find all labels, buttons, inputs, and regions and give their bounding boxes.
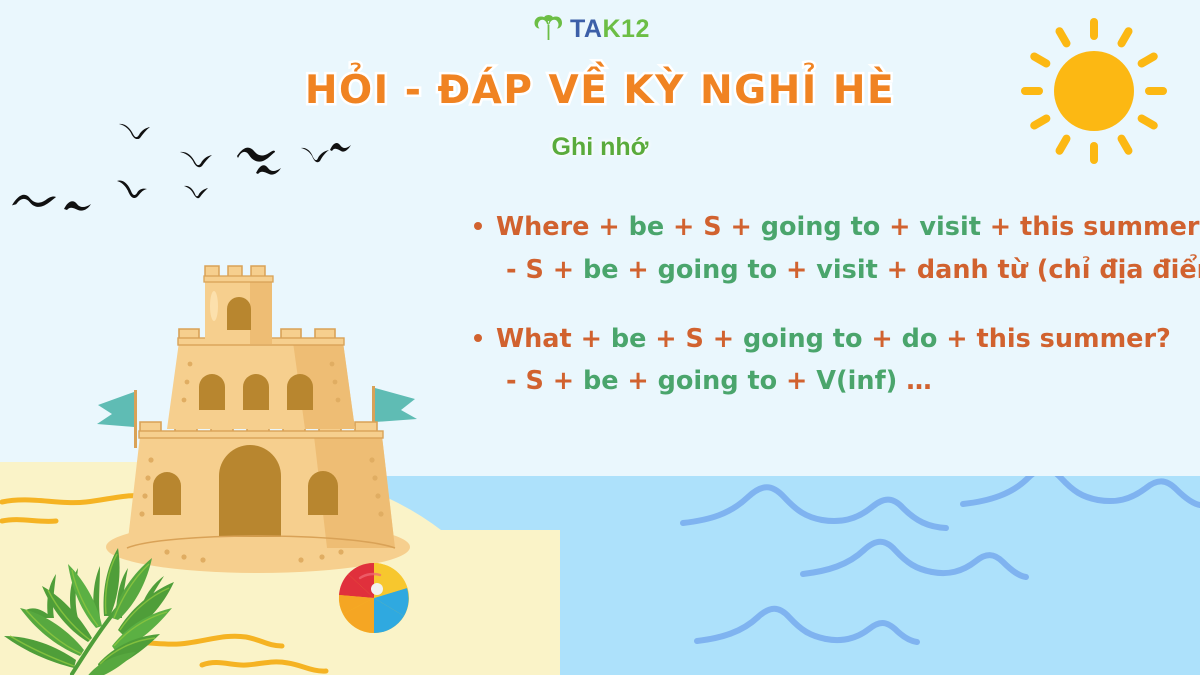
memo-segment: +	[777, 255, 816, 285]
memo-segment: +	[544, 255, 583, 285]
memo-segment: S	[703, 212, 721, 242]
memo-segment: going to	[761, 212, 881, 242]
memo-segment: +	[544, 366, 583, 396]
memo-segment: S	[525, 255, 543, 285]
memo-segment: +	[863, 324, 902, 354]
memo-answer-line: - S + be + going to + V(inf) …	[474, 360, 1174, 403]
memo-segment: going to	[743, 324, 863, 354]
infographic-canvas: TAK12 HỎI - ĐÁP VỀ KỲ NGHỈ HÈ Ghi nhớ Wh…	[0, 0, 1200, 675]
bullet-marker	[474, 222, 482, 230]
memo-segment: +	[589, 212, 628, 242]
memo-segment: +	[878, 255, 917, 285]
memo-segment: +	[981, 212, 1020, 242]
beach-ball-icon	[338, 562, 410, 634]
memo-segment: this summer?	[1020, 212, 1200, 242]
memo-segment: +	[777, 366, 816, 396]
memo-spacer	[474, 292, 1174, 318]
memo-segment: this summer?	[977, 324, 1171, 354]
memo-segment: +	[664, 212, 703, 242]
memo-segment: be	[611, 324, 647, 354]
memo-segment: …	[897, 366, 931, 396]
memo-segment: do	[902, 324, 938, 354]
memo-segment: be	[629, 212, 665, 242]
memo-segment: +	[722, 212, 761, 242]
memo-segment: +	[619, 255, 658, 285]
memo-answer-line: - S + be + going to + visit + danh từ (c…	[474, 249, 1174, 292]
memo-segment: going to	[658, 255, 778, 285]
memo-segment: +	[937, 324, 976, 354]
palm-leaf-icon	[0, 548, 194, 675]
bullet-marker	[474, 334, 482, 342]
sandcastle-icon	[95, 264, 425, 574]
memo-segment: What	[496, 324, 572, 354]
memo-segment: visit	[816, 255, 877, 285]
memo-segment: be	[583, 255, 619, 285]
memo-segment: +	[880, 212, 919, 242]
bird-icon	[255, 161, 283, 177]
memo-segment: V(inf)	[816, 366, 897, 396]
logo-text-k12: K12	[602, 15, 649, 43]
bird-icon	[115, 176, 149, 198]
page-title: HỎI - ĐÁP VỀ KỲ NGHỈ HÈ	[0, 68, 1200, 113]
memo-question-line: Where + be + S + going to + visit + this…	[474, 206, 1174, 249]
memo-segment: be	[583, 366, 619, 396]
memo-segment: danh từ (chỉ địa điểm).	[917, 255, 1200, 285]
palm-tree-icon	[533, 12, 563, 47]
brand-logo[interactable]: TAK12	[533, 12, 650, 47]
memo-content: Where + be + S + going to + visit + this…	[474, 206, 1174, 403]
memo-segment: visit	[919, 212, 980, 242]
memo-segment: S	[686, 324, 704, 354]
memo-segment: +	[646, 324, 685, 354]
memo-segment: -	[506, 255, 525, 285]
memo-segment: Where	[496, 212, 589, 242]
memo-question-line: What + be + S + going to + do + this sum…	[474, 318, 1174, 361]
page-subtitle: Ghi nhớ	[0, 133, 1200, 162]
memo-segment: +	[704, 324, 743, 354]
memo-segment: -	[506, 366, 525, 396]
bird-icon	[11, 188, 57, 209]
memo-segment: S	[525, 366, 543, 396]
bird-icon	[63, 196, 93, 212]
memo-segment: +	[572, 324, 611, 354]
memo-segment: +	[619, 366, 658, 396]
logo-text-ta: TA	[570, 15, 602, 43]
memo-segment: going to	[658, 366, 778, 396]
bird-icon	[183, 183, 209, 199]
